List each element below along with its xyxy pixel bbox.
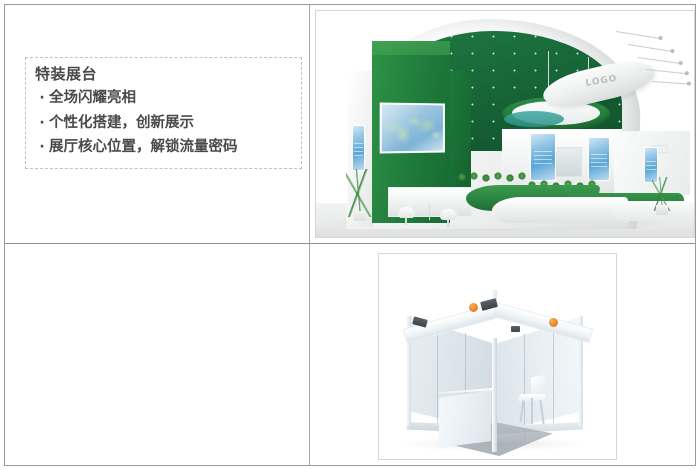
comparison-table-page: 特装展台 · 全场闪耀亮相 · 个性化搭建，创新展示 · 展厅核心位置，解锁流量 [0, 0, 700, 470]
palm-plant [346, 169, 376, 217]
bullet-icon: · [35, 116, 49, 130]
booth-logo-text: LOGO [585, 74, 618, 89]
orange-roundel-logo-icon [549, 318, 558, 327]
spotlight-arm [652, 81, 688, 85]
list-item: · 展厅核心位置，解锁流量密码 [35, 135, 292, 160]
cell-premium-text: 特装展台 · 全场闪耀亮相 · 个性化搭建，创新展示 · 展厅核心位置，解锁流量 [5, 5, 310, 244]
blue-banner [352, 125, 365, 171]
panel-seam [437, 326, 438, 430]
world-map-poster [380, 102, 445, 153]
cell-standard-text: 标展展台 · 小而美展示 · 初体验 [5, 244, 310, 465]
standard-booth-render [379, 254, 616, 459]
plant-pot [354, 211, 366, 221]
list-item: · 全场闪耀亮相 [35, 86, 292, 111]
booth-counter [439, 390, 491, 448]
premium-bullet-3: 展厅核心位置，解锁流量密码 [49, 140, 238, 155]
chair-leg [531, 398, 533, 424]
blue-banner [588, 137, 610, 181]
teal-ring-accent [504, 111, 564, 127]
white-reception-counter [492, 197, 628, 223]
premium-booth-title: 特装展台 [35, 65, 292, 83]
spotlight-arm [616, 31, 660, 39]
spotlight-head [658, 36, 663, 41]
orange-roundel-logo-icon [469, 303, 478, 312]
plant-pot [656, 205, 668, 215]
fascia-bracket [511, 326, 520, 332]
lounge-chair [440, 209, 457, 220]
center-corner-post [492, 338, 497, 452]
list-item: · 个性化搭建，创新展示 [35, 111, 292, 136]
premium-booth-render: LOGO [316, 11, 694, 237]
bullet-icon: · [35, 91, 49, 105]
lounge-table [424, 201, 436, 205]
standard-booth-photo [378, 253, 617, 460]
panel-seam [524, 334, 525, 438]
premium-bullet-1: 全场闪耀亮相 [49, 91, 136, 106]
spotlight-head [687, 81, 691, 85]
spotlight-head [670, 49, 675, 54]
blue-banner [530, 133, 556, 181]
booth-comparison-grid: 特装展台 · 全场闪耀亮相 · 个性化搭建，创新展示 · 展厅核心位置，解锁流量 [5, 5, 695, 465]
spotlight-arm [628, 44, 672, 52]
spotlight-head [678, 61, 683, 66]
panel-seam [553, 326, 554, 430]
premium-bullet-2: 个性化搭建，创新展示 [49, 116, 194, 131]
cell-premium-photo: LOGO [310, 5, 695, 244]
premium-booth-textbox: 特装展台 · 全场闪耀亮相 · 个性化搭建，创新展示 · 展厅核心位置，解锁流量 [25, 57, 302, 169]
spotlight-head [685, 71, 689, 75]
lounge-chair [398, 207, 415, 218]
premium-booth-bullet-list: · 全场闪耀亮相 · 个性化搭建，创新展示 · 展厅核心位置，解锁流量密码 [35, 86, 292, 160]
outer-frame: 特装展台 · 全场闪耀亮相 · 个性化搭建，创新展示 · 展厅核心位置，解锁流量 [4, 4, 696, 466]
cell-standard-photo [310, 244, 695, 465]
premium-booth-photo: LOGO [315, 10, 695, 238]
bullet-icon: · [35, 140, 49, 154]
